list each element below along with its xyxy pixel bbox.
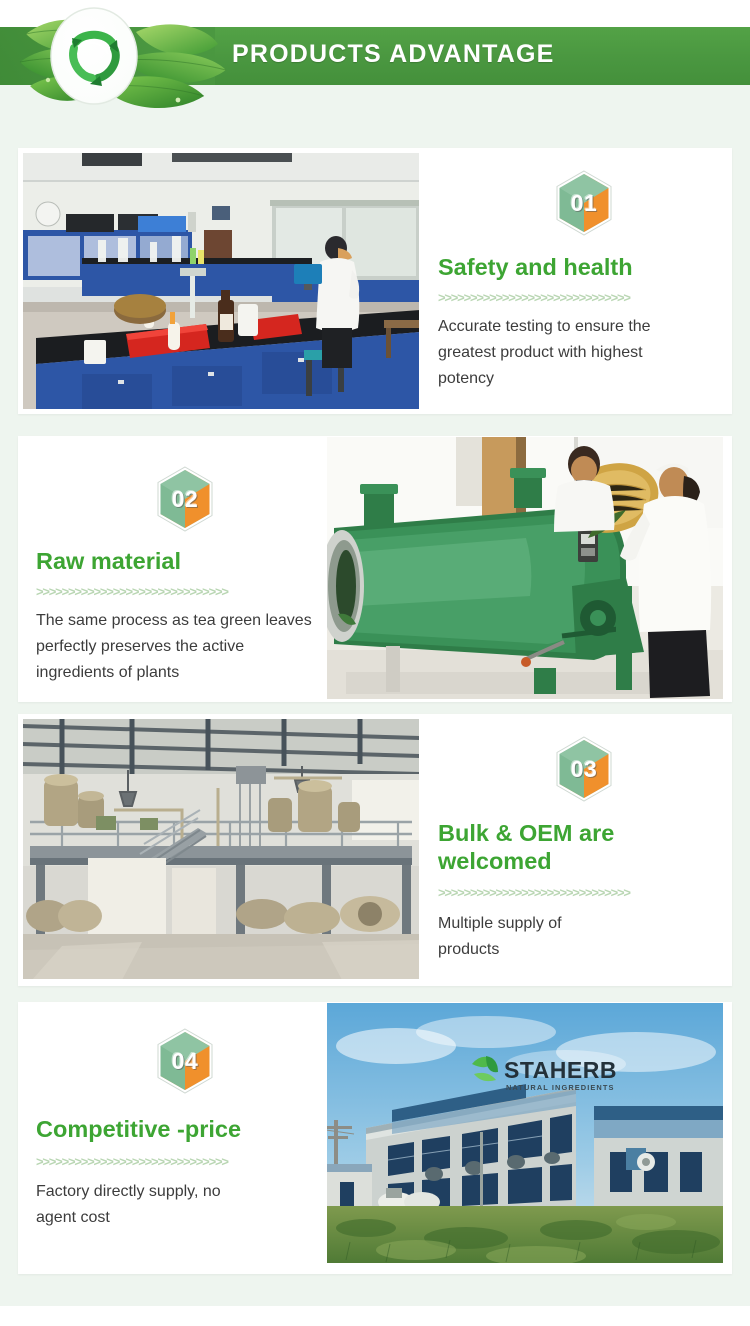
step-badge-number: 03 xyxy=(555,736,613,802)
advantage-panel-02: 02 Raw material >>>>>>>>>>>>>>>>>>>>>>>>… xyxy=(36,466,326,685)
step-badge-number: 01 xyxy=(555,170,613,236)
advantage-block-01: 01 Safety and health >>>>>>>>>>>>>>>>>>>… xyxy=(18,148,732,414)
step-badge-number: 04 xyxy=(156,1028,214,1094)
advantage-text: Multiple supply of products xyxy=(438,911,618,963)
advantage-panel-03: 03 Bulk & OEM are welcomed >>>>>>>>>>>>>… xyxy=(438,736,730,963)
advantage-panel-04: 04 Competitive -price >>>>>>>>>>>>>>>>>>… xyxy=(36,1028,326,1231)
page-header: PRODUCTS ADVANTAGE xyxy=(0,0,750,118)
advantage-title: Competitive -price xyxy=(36,1116,326,1144)
tea-roasting-machine-photo xyxy=(326,436,724,700)
products-advantage-page: PRODUCTS ADVANTAGE xyxy=(0,0,750,1326)
advantage-panel-01: 01 Safety and health >>>>>>>>>>>>>>>>>>>… xyxy=(438,170,730,391)
step-badge-number: 02 xyxy=(156,466,214,532)
advantage-title: Safety and health xyxy=(438,254,730,282)
advantage-block-02: 02 Raw material >>>>>>>>>>>>>>>>>>>>>>>>… xyxy=(18,436,732,702)
advantage-text: Factory directly supply, no agent cost xyxy=(36,1179,236,1231)
laboratory-photo xyxy=(22,152,420,410)
advantage-title: Raw material xyxy=(36,548,326,576)
step-badge-04: 04 xyxy=(156,1028,214,1094)
advantage-block-04: STAHERB NATURAL INGREDIENTS xyxy=(18,1002,732,1274)
advantage-title: Bulk & OEM are welcomed xyxy=(438,820,664,875)
page-bottom-strip xyxy=(0,1306,750,1326)
advantage-block-03: 03 Bulk & OEM are welcomed >>>>>>>>>>>>>… xyxy=(18,714,732,986)
factory-building-photo: STAHERB NATURAL INGREDIENTS xyxy=(326,1002,724,1264)
page-title: PRODUCTS ADVANTAGE xyxy=(232,40,555,69)
extraction-workshop-photo xyxy=(22,718,420,980)
chevron-divider: >>>>>>>>>>>>>>>>>>>>>>>>>>>>>> xyxy=(36,585,288,598)
page-canvas: PRODUCTS ADVANTAGE xyxy=(0,0,750,1306)
step-badge-03: 03 xyxy=(555,736,613,802)
advantage-text: Accurate testing to ensure the greatest … xyxy=(438,314,696,392)
chevron-divider: >>>>>>>>>>>>>>>>>>>>>>>>>>>>>> xyxy=(438,886,694,899)
leaf-circle-logo-icon xyxy=(18,0,233,118)
svg-text:NATURAL INGREDIENTS: NATURAL INGREDIENTS xyxy=(506,1083,615,1092)
chevron-divider: >>>>>>>>>>>>>>>>>>>>>>>>>>>>>> xyxy=(36,1155,292,1168)
chevron-divider: >>>>>>>>>>>>>>>>>>>>>>>>>>>>>> xyxy=(438,291,694,304)
step-badge-02: 02 xyxy=(156,466,214,532)
svg-text:STAHERB: STAHERB xyxy=(504,1057,617,1083)
step-badge-01: 01 xyxy=(555,170,613,236)
advantage-text: The same process as tea green leaves per… xyxy=(36,608,314,686)
